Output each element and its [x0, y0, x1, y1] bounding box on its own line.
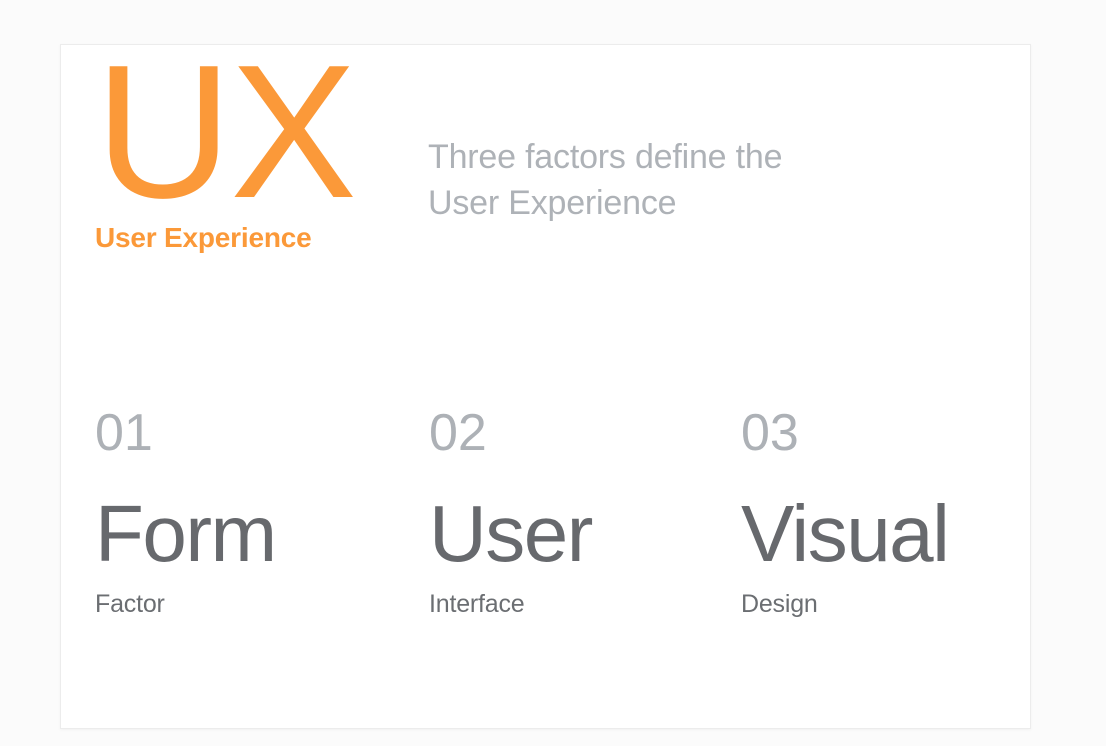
factor-subtitle: Factor — [95, 589, 405, 619]
factor-number: 02 — [429, 405, 739, 461]
factor-title: Visual — [741, 491, 1051, 577]
factor-title: User — [429, 491, 739, 577]
slide-card: UX User Experience Three factors define … — [60, 44, 1031, 729]
factor-number: 01 — [95, 405, 405, 461]
ux-logo-mark: UX — [95, 57, 395, 209]
brand-block: UX User Experience — [95, 57, 395, 255]
headline-line-2: User Experience — [428, 180, 948, 226]
factor-column-03: 03 Visual Design — [741, 405, 1051, 619]
factor-subtitle: Interface — [429, 589, 739, 619]
headline-line-1: Three factors define the — [428, 134, 948, 180]
headline-block: Three factors define the User Experience — [428, 134, 948, 226]
factor-number: 03 — [741, 405, 1051, 461]
factor-subtitle: Design — [741, 589, 1051, 619]
factor-title: Form — [95, 491, 405, 577]
factor-column-01: 01 Form Factor — [95, 405, 405, 619]
factors-row: 01 Form Factor 02 User Interface 03 Visu… — [61, 405, 1032, 665]
factor-column-02: 02 User Interface — [429, 405, 739, 619]
